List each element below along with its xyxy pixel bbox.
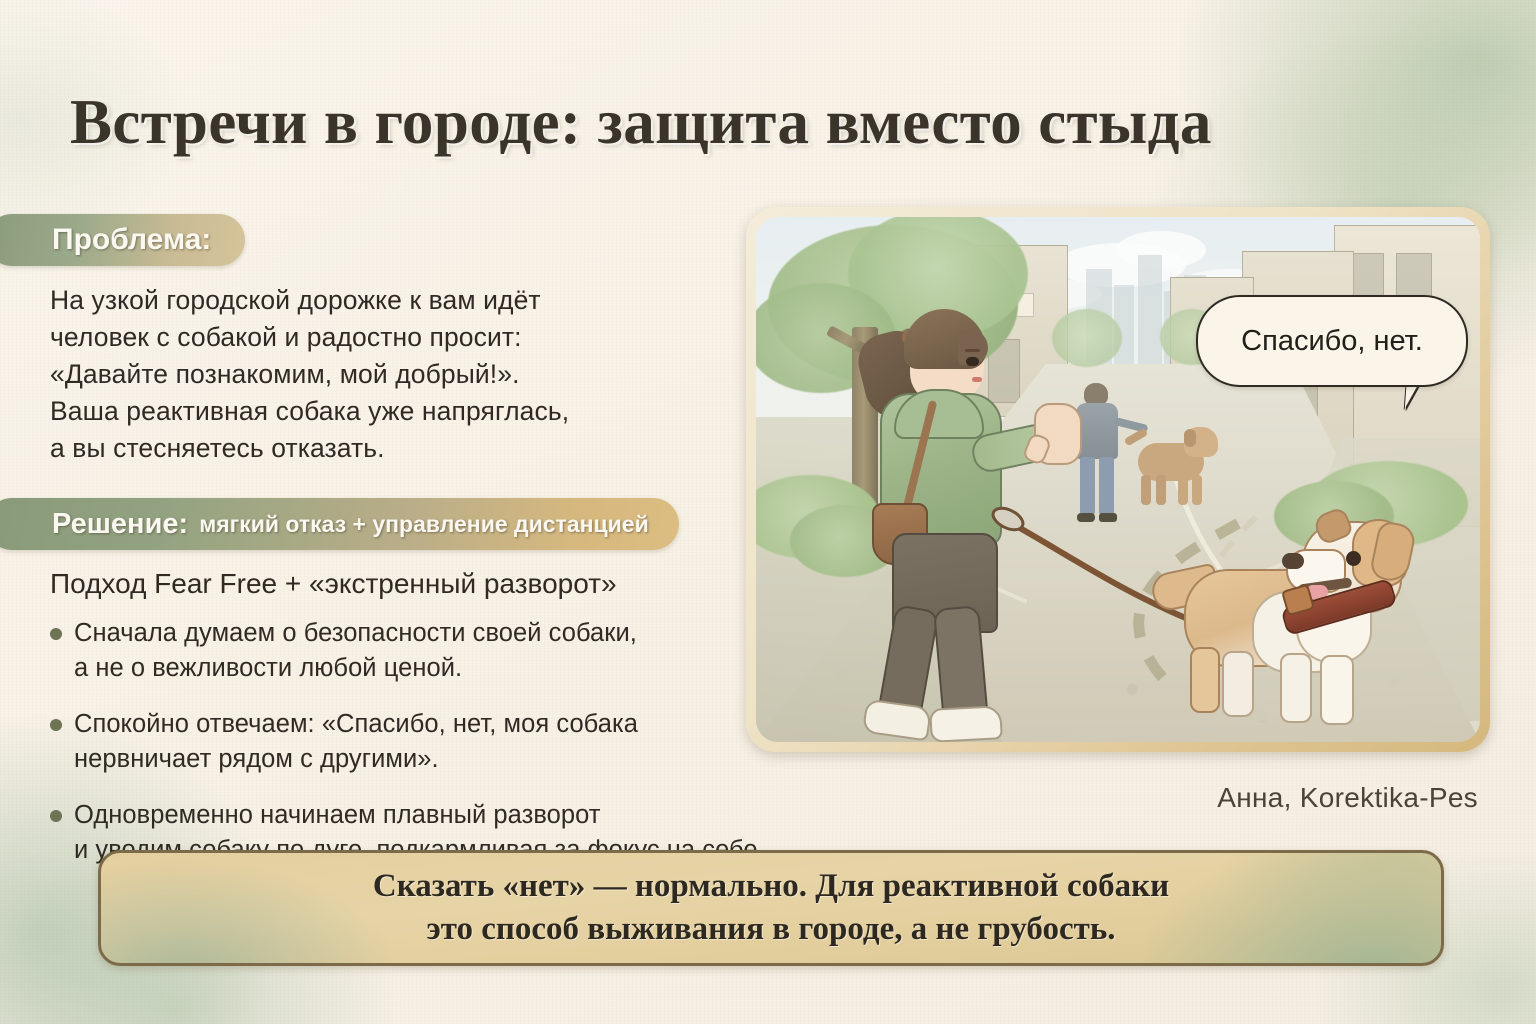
solution-badge-subtitle: мягкий отказ + управление дистанцией [199,511,649,538]
speech-bubble-text: Спасибо, нет. [1241,325,1423,358]
bottom-banner: Сказать «нет» — нормально. Для реактивно… [98,850,1444,966]
dog-leg-front-back [1280,653,1312,723]
author-signature: Анна, Korektika-Pes [0,782,1478,814]
problem-paragraph: На узкой городской дорожке к вам идёт че… [50,282,710,467]
bullet-dot-icon [50,719,62,731]
speech-bubble: Спасибо, нет. [1196,295,1468,387]
solution-badge: Решение: мягкий отказ + управление диста… [0,498,679,550]
dog-leg-front-front [1320,655,1354,725]
list-item: Спокойно отвечаем: «Спасибо, нет, моя со… [46,707,866,777]
illustration-scene: Спасибо, нет. [756,217,1480,742]
illustration-frame: Спасибо, нет. [746,207,1490,752]
problem-line-4: Ваша реактивная собака уже напряглась, [50,393,710,430]
solution-bullet-list: Сначала думаем о безопасности своей соба… [46,616,866,889]
banner-line-1: Сказать «нет» — нормально. Для реактивно… [373,865,1169,908]
problem-line-1: На узкой городской дорожке к вам идёт [50,282,710,319]
dog-nose [1282,553,1304,569]
problem-badge: Проблема: [0,214,245,266]
infographic-page: Встречи в городе: защита вместо стыда Пр… [0,0,1536,1024]
dog-eye [1346,551,1361,566]
problem-badge-label: Проблема: [52,223,211,257]
page-title: Встречи в городе: защита вместо стыда [70,86,1390,159]
bullet-2-line-2: нервничает рядом с другими». [74,742,866,777]
list-item: Сначала думаем о безопасности своей соба… [46,616,866,686]
solution-badge-label: Решение: [52,508,188,541]
problem-line-5: а вы стесняетесь отказать. [50,430,710,467]
dog-leg-rear-front [1222,651,1254,717]
banner-line-2: это способ выживания в городе, а не груб… [426,908,1115,951]
dog-figure [1156,529,1406,739]
dog-leg-rear-back [1190,647,1220,713]
approach-line: Подход Fear Free + «экстренный разворот» [50,566,750,602]
problem-line-2: человек с собакой и радостно просит: [50,319,710,356]
problem-line-3: «Давайте познакомим, мой добрый!». [50,356,710,393]
bullet-dot-icon [50,628,62,640]
